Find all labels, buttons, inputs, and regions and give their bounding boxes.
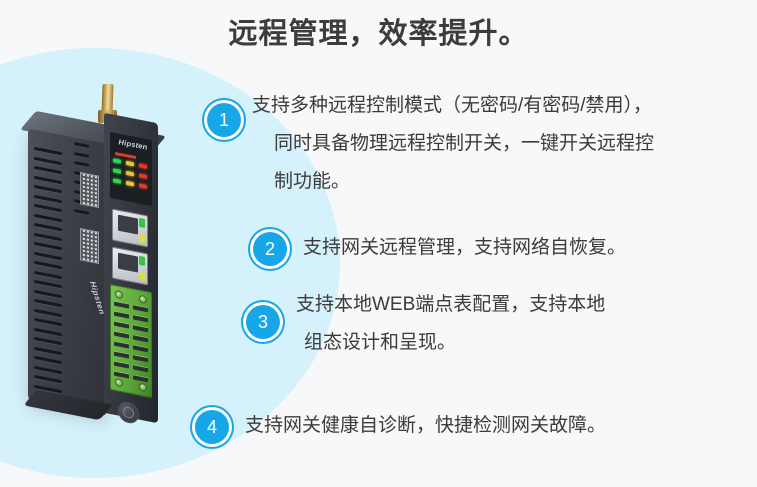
led-yellow-icon	[126, 171, 134, 177]
page-title: 远程管理，效率提升。	[0, 10, 757, 52]
led-green-icon	[113, 178, 121, 184]
feature-text-3-line-2: 组态设计和呈现。	[296, 324, 605, 362]
feature-badge-4: 4	[195, 410, 229, 444]
ethernet-port-1	[112, 209, 148, 248]
feature-text-1-line-2: 同时具备物理远程控制开关，一键开关远程控	[252, 125, 654, 163]
feature-text-1: 支持多种远程控制模式（无密码/有密码/禁用）， 同时具备物理远程控制开关，一键开…	[252, 87, 654, 201]
feature-text-4: 支持网关健康自诊断，快捷检测网关故障。	[245, 407, 606, 445]
feature-badge-1: 1	[207, 103, 241, 137]
ventilation-slots-left	[34, 147, 66, 403]
feature-badge-2: 2	[253, 232, 287, 266]
product-device-image: Hipsten Hipsten	[18, 78, 218, 448]
qr-code-label-bottom	[80, 228, 99, 264]
led-row	[113, 168, 151, 179]
led-green-icon	[113, 168, 121, 174]
feature-text-1-line-1: 支持多种远程控制模式（无密码/有密码/禁用），	[252, 95, 652, 116]
led-yellow-icon	[126, 181, 134, 187]
feature-text-1-line-3: 制功能。	[252, 163, 654, 201]
led-row	[113, 178, 151, 189]
feature-text-3-line-1: 支持本地WEB端点表配置，支持本地	[296, 294, 605, 315]
ventilation-slots-inner	[74, 142, 94, 296]
feature-badge-3: 3	[246, 305, 280, 339]
feature-text-4-line-1: 支持网关健康自诊断，快捷检测网关故障。	[245, 415, 606, 436]
led-red-icon	[139, 173, 147, 179]
feature-text-2: 支持网关远程管理，支持网络自恢复。	[303, 229, 626, 267]
led-green-icon	[113, 158, 121, 164]
screw-terminal-block	[110, 284, 152, 398]
ethernet-port-2	[112, 247, 148, 286]
feature-text-2-line-1: 支持网关远程管理，支持网络自恢复。	[303, 237, 626, 258]
feature-text-3: 支持本地WEB端点表配置，支持本地 组态设计和呈现。	[296, 286, 605, 362]
led-red-icon	[139, 163, 147, 169]
led-yellow-icon	[126, 161, 134, 167]
qr-code-label-top	[80, 172, 99, 208]
product-feature-banner: 远程管理，效率提升。	[0, 0, 757, 487]
led-red-icon	[139, 183, 147, 189]
